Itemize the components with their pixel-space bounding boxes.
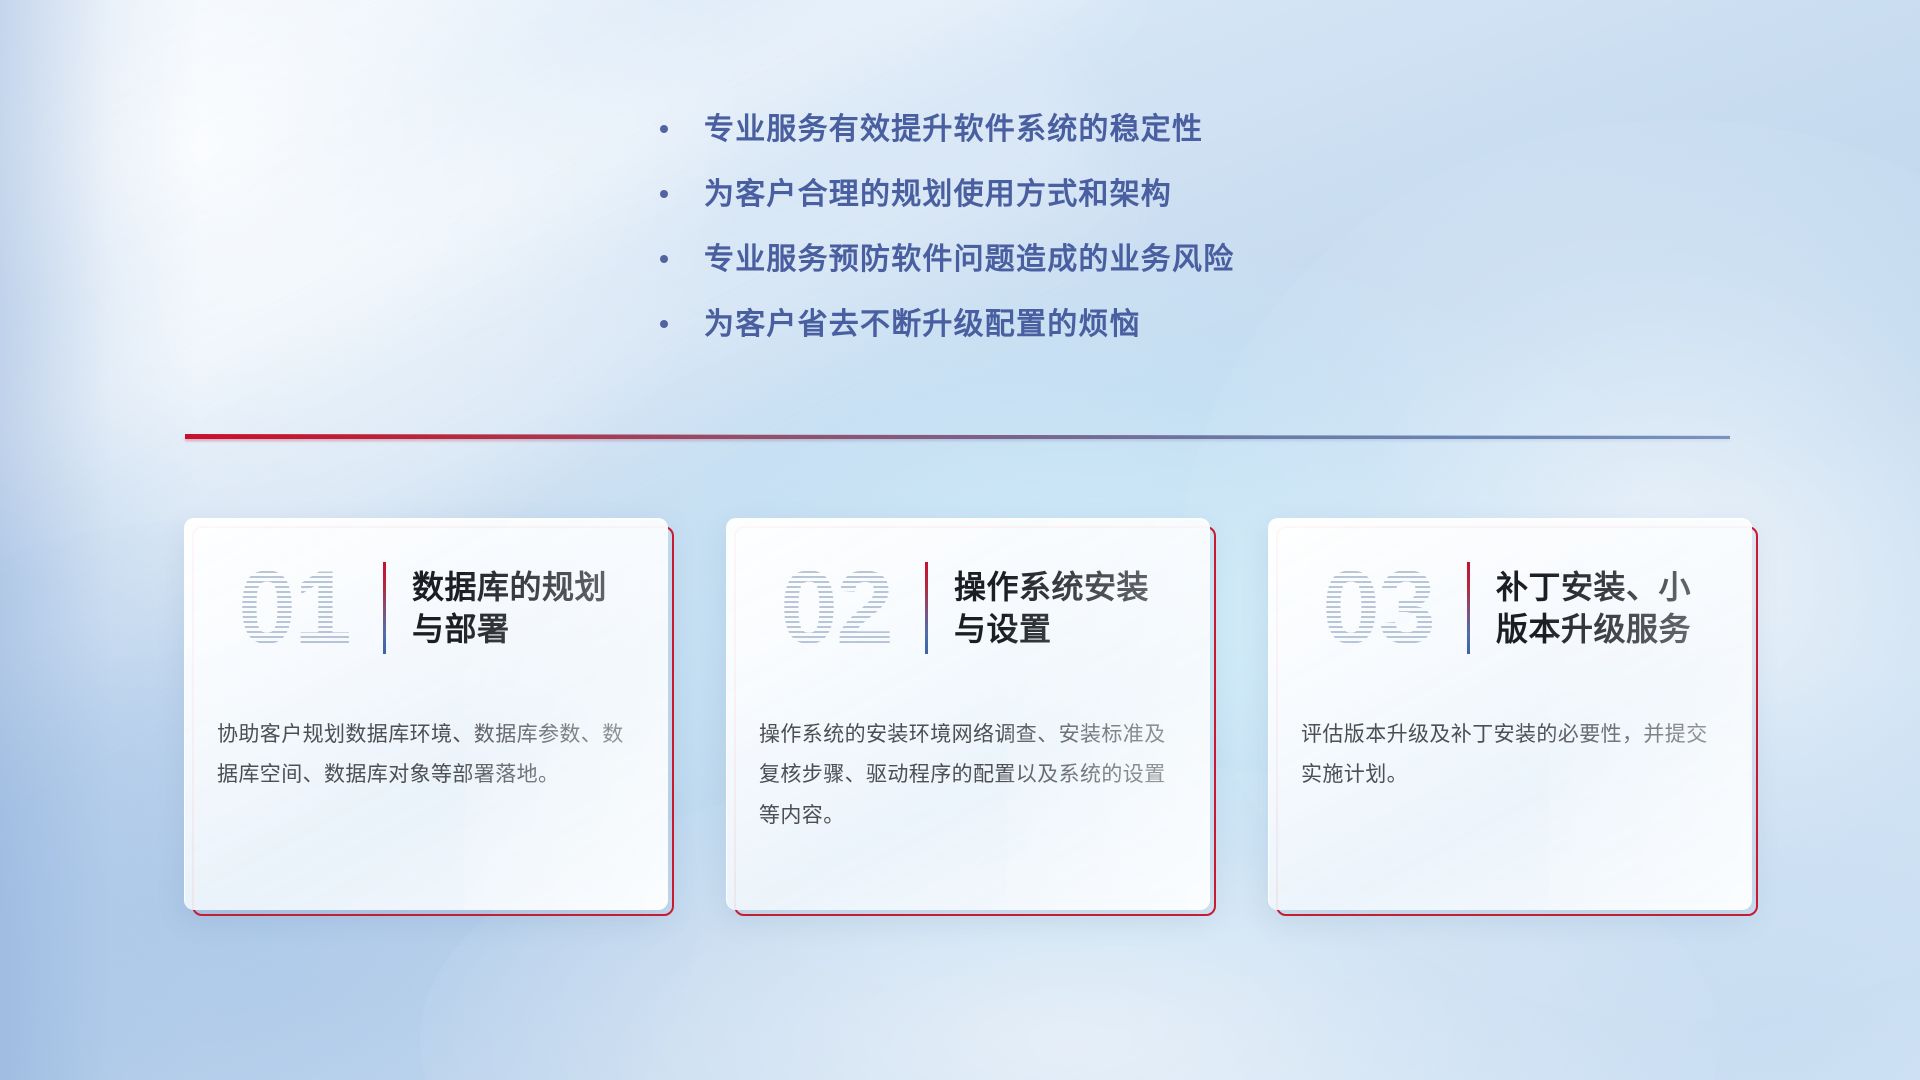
service-card-01[interactable]: 01 数据库的规划 与部署 协助客户规划数据库环境、数据库参数、数据库空间、数据… [184,518,668,910]
card-header: 03 补丁安装、小 版本升级服务 [1269,537,1752,679]
list-item: 专业服务预防软件问题造成的业务风险 [660,245,1420,310]
card-title: 数据库的规划 与部署 [412,566,607,650]
bullet-text: 为客户省去不断升级配置的烦恼 [704,310,1141,340]
background-left-tint [0,0,200,1080]
bullet-text: 专业服务预防软件问题造成的业务风险 [704,245,1234,275]
list-item: 为客户合理的规划使用方式和架构 [660,180,1420,245]
card-header: 01 数据库的规划 与部署 [185,537,668,679]
card-divider-bar [1467,562,1470,654]
benefits-bullet-list: 专业服务有效提升软件系统的稳定性 为客户合理的规划使用方式和架构 专业服务预防软… [660,115,1420,375]
card-number-ghost: 03 [1295,556,1461,660]
bullet-dot-icon [660,125,668,133]
section-divider [185,432,1730,444]
divider-bar [185,434,1730,439]
bullet-dot-icon [660,320,668,328]
card-number-ghost: 02 [753,556,919,660]
bullet-text: 为客户合理的规划使用方式和架构 [704,180,1172,210]
card-header: 02 操作系统安装 与设置 [727,537,1210,679]
card-body-text: 协助客户规划数据库环境、数据库参数、数据库空间、数据库对象等部署落地。 [217,715,638,796]
bullet-dot-icon [660,255,668,263]
card-divider-bar [383,562,386,654]
bullet-dot-icon [660,190,668,198]
service-card-02[interactable]: 02 操作系统安装 与设置 操作系统的安装环境网络调查、安装标准及复核步骤、驱动… [726,518,1210,910]
card-divider-bar [925,562,928,654]
card-body-text: 操作系统的安装环境网络调查、安装标准及复核步骤、驱动程序的配置以及系统的设置等内… [759,715,1180,836]
list-item: 为客户省去不断升级配置的烦恼 [660,310,1420,375]
list-item: 专业服务有效提升软件系统的稳定性 [660,115,1420,180]
bullet-text: 专业服务有效提升软件系统的稳定性 [704,115,1203,145]
card-surface: 01 数据库的规划 与部署 协助客户规划数据库环境、数据库参数、数据库空间、数据… [184,518,668,910]
card-surface: 02 操作系统安装 与设置 操作系统的安装环境网络调查、安装标准及复核步骤、驱动… [726,518,1210,910]
card-title: 操作系统安装 与设置 [954,566,1149,650]
card-number-ghost: 01 [211,556,377,660]
service-card-03[interactable]: 03 补丁安装、小 版本升级服务 评估版本升级及补丁安装的必要性，并提交实施计划… [1268,518,1752,910]
card-title: 补丁安装、小 版本升级服务 [1496,566,1691,650]
card-body-text: 评估版本升级及补丁安装的必要性，并提交实施计划。 [1301,715,1722,796]
service-card-row: 01 数据库的规划 与部署 协助客户规划数据库环境、数据库参数、数据库空间、数据… [184,518,1750,928]
card-surface: 03 补丁安装、小 版本升级服务 评估版本升级及补丁安装的必要性，并提交实施计划… [1268,518,1752,910]
